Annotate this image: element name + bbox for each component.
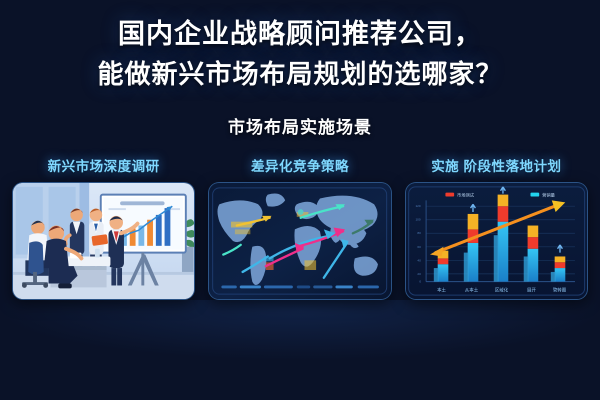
svg-text:营销量: 营销量 <box>542 192 556 199</box>
svg-text:100: 100 <box>415 218 420 222</box>
scenario-card-research[interactable]: 新兴市场深度调研 <box>12 155 195 300</box>
scenario-card-label: 实施 阶段性落地计划 <box>405 155 588 175</box>
world-map-expansion-arrows-illustration[interactable] <box>208 182 391 300</box>
svg-text:80: 80 <box>417 231 421 235</box>
bar-chart-svg: 120100 8060 4020 0 市场测试 营销量 <box>406 183 587 299</box>
scenario-card-row: 新兴市场深度调研 <box>12 155 588 300</box>
svg-text:0: 0 <box>419 280 421 284</box>
svg-text:本土: 本土 <box>437 286 446 293</box>
section-title: 市场布局实施场景 <box>0 113 600 138</box>
svg-text:管转圈: 管转圈 <box>552 286 566 293</box>
world-map-svg <box>209 183 390 299</box>
svg-text:从本土: 从本土 <box>465 286 479 293</box>
page-title: 国内企业战略顾问推荐公司， 能做新兴市场布局规划的选哪家？ <box>0 14 600 94</box>
business-meeting-presentation-illustration[interactable] <box>12 182 195 300</box>
svg-text:120: 120 <box>415 204 420 208</box>
svg-text:60: 60 <box>417 245 421 249</box>
headline-line-2: 能做新兴市场布局规划的选哪家？ <box>0 54 600 94</box>
scenario-card-strategy[interactable]: 差异化竞争策略 <box>208 155 391 300</box>
svg-text:40: 40 <box>417 258 421 262</box>
scenario-card-rollout[interactable]: 实施 阶段性落地计划 <box>405 155 588 300</box>
poster-canvas: 国内企业战略顾问推荐公司， 能做新兴市场布局规划的选哪家？ 市场布局实施场景 新… <box>0 0 600 400</box>
svg-text:市场测试: 市场测试 <box>457 192 475 199</box>
meeting-illustration-svg <box>13 183 194 299</box>
stacked-bar-growth-chart-illustration[interactable]: 120100 8060 4020 0 市场测试 营销量 <box>405 182 588 300</box>
svg-text:区域化: 区域化 <box>494 286 508 293</box>
headline-line-1: 国内企业战略顾问推荐公司， <box>0 14 600 54</box>
scenario-card-label: 新兴市场深度调研 <box>12 155 195 175</box>
scenario-card-label: 差异化竞争策略 <box>208 155 391 175</box>
svg-text:20: 20 <box>417 272 421 276</box>
